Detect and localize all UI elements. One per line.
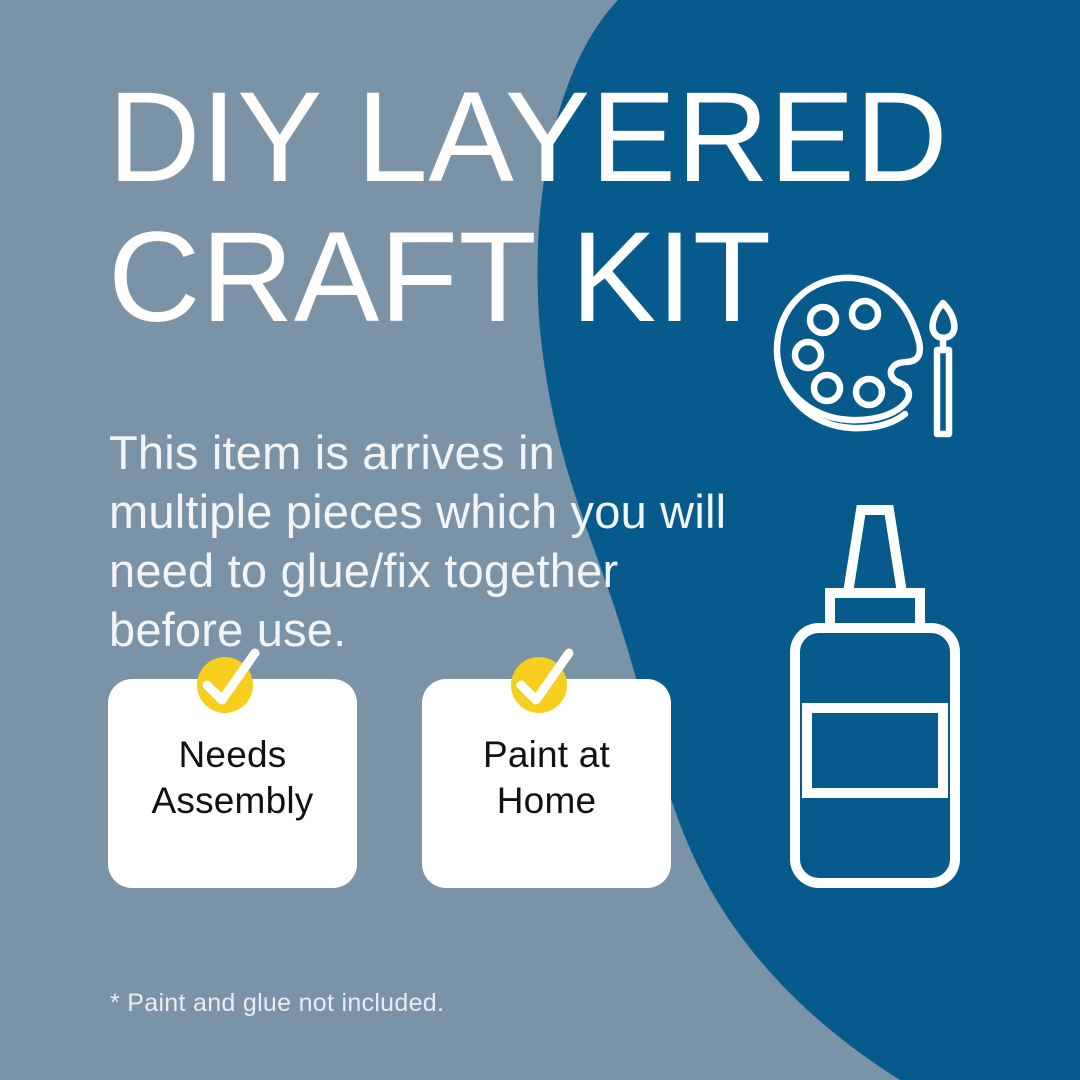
footnote-disclaimer: * Paint and glue not included.	[110, 989, 444, 1018]
description-text: This item is arrives in multiple pieces …	[109, 423, 729, 659]
paint-palette-and-brush-icon	[772, 272, 980, 447]
badge-card-paint-at-home: Paint at Home	[422, 679, 671, 888]
glue-bottle-icon	[775, 503, 975, 893]
check-circle-icon	[193, 647, 261, 715]
promo-graphic: DIY LAYERED CRAFT KIT This item is arriv…	[0, 0, 1080, 1080]
badge-label: Paint at Home	[422, 732, 671, 824]
badge-label: Needs Assembly	[108, 732, 357, 824]
check-circle-icon	[507, 647, 575, 715]
badge-card-needs-assembly: Needs Assembly	[108, 679, 357, 888]
